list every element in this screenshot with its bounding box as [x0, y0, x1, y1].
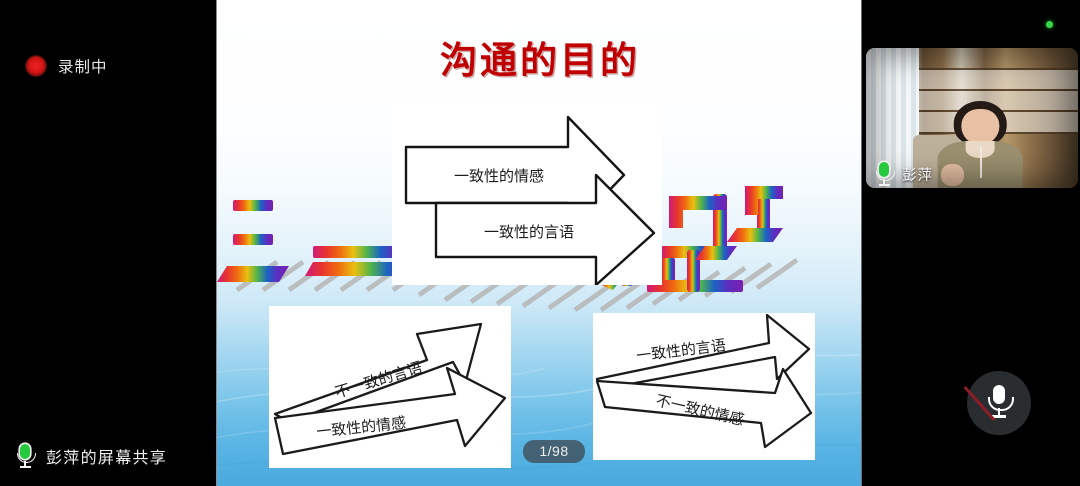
bottom-left-arrow-diagram: 不一致的言语 一致性的情感 — [269, 306, 511, 468]
slide-title: 沟通的目的 — [217, 30, 862, 84]
screen-share-label: 彭萍的屏幕共享 — [46, 444, 167, 468]
shared-slide-stage[interactable]: 沟通的目的 一致性的情感 一致性的言语 不一致的言语 一致性的情感 — [216, 0, 862, 486]
microphone-icon — [873, 161, 895, 187]
participant-name: 彭萍 — [902, 164, 933, 185]
record-dot-icon — [26, 56, 46, 76]
screen-share-status: 彭萍的屏幕共享 — [14, 443, 167, 469]
top-arrow-diagram: 一致性的情感 一致性的言语 — [392, 105, 662, 285]
left-arrow-label-1: 不一致的言语 — [333, 358, 424, 402]
meeting-screen: 录制中 彭萍的屏幕共享 — [0, 0, 1080, 486]
participant-name-row: 彭萍 — [866, 160, 933, 188]
status-dot-icon — [1046, 21, 1053, 28]
left-rail: 录制中 彭萍的屏幕共享 — [0, 0, 216, 486]
bottom-right-arrow-diagram: 一致性的言语 不一致的情感 — [593, 313, 815, 460]
participant-video-tile[interactable]: 彭萍 — [866, 48, 1078, 188]
mute-button[interactable] — [967, 371, 1031, 435]
page-indicator: 1/98 — [523, 440, 585, 463]
recording-indicator: 录制中 — [26, 55, 108, 77]
recording-label: 录制中 — [58, 55, 108, 77]
microphone-icon — [14, 443, 36, 469]
top-arrow-label-2: 一致性的言语 — [484, 223, 574, 241]
top-arrow-label-1: 一致性的情感 — [454, 167, 544, 185]
